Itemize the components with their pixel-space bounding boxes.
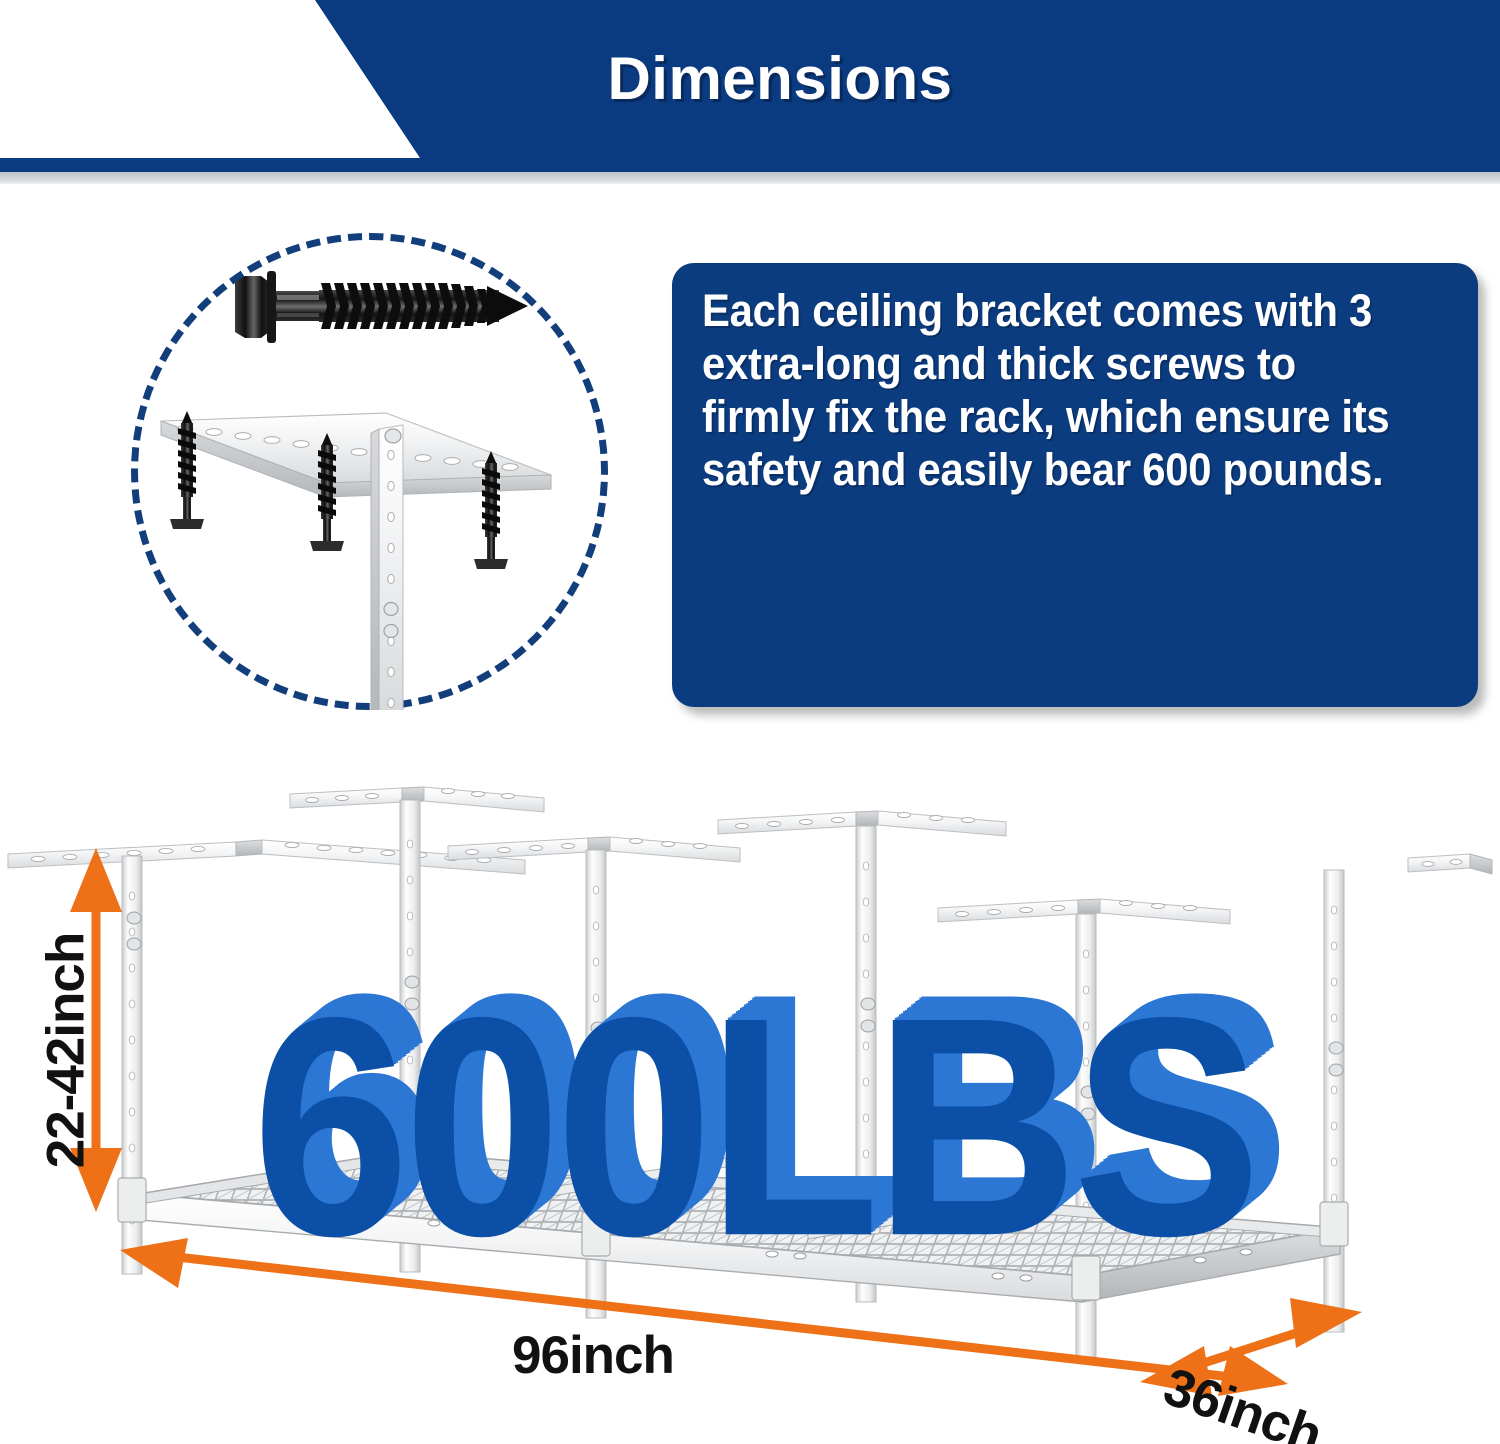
width-dimension-label: 96inch: [512, 1325, 674, 1386]
detail-circle-outline: [131, 233, 608, 710]
header-divider: [0, 172, 1500, 184]
feature-callout-text: Each ceiling bracket comes with 3 extra-…: [702, 285, 1400, 497]
header-banner: Dimensions: [0, 0, 1500, 172]
ceiling-bracket-rail: [1408, 854, 1492, 874]
rack-shelf-deck: [140, 1152, 1340, 1302]
page-title: Dimensions: [0, 44, 1500, 113]
feature-callout-box: Each ceiling bracket comes with 3 extra-…: [672, 263, 1478, 707]
overhead-rack-illustration: [0, 760, 1500, 1444]
ceiling-bracket-rail: [8, 840, 525, 874]
rack-vertical-post: [1324, 870, 1344, 1332]
infographic-page: Dimensions: [0, 0, 1500, 1444]
height-dimension-label: 22-42inch: [36, 921, 97, 1181]
